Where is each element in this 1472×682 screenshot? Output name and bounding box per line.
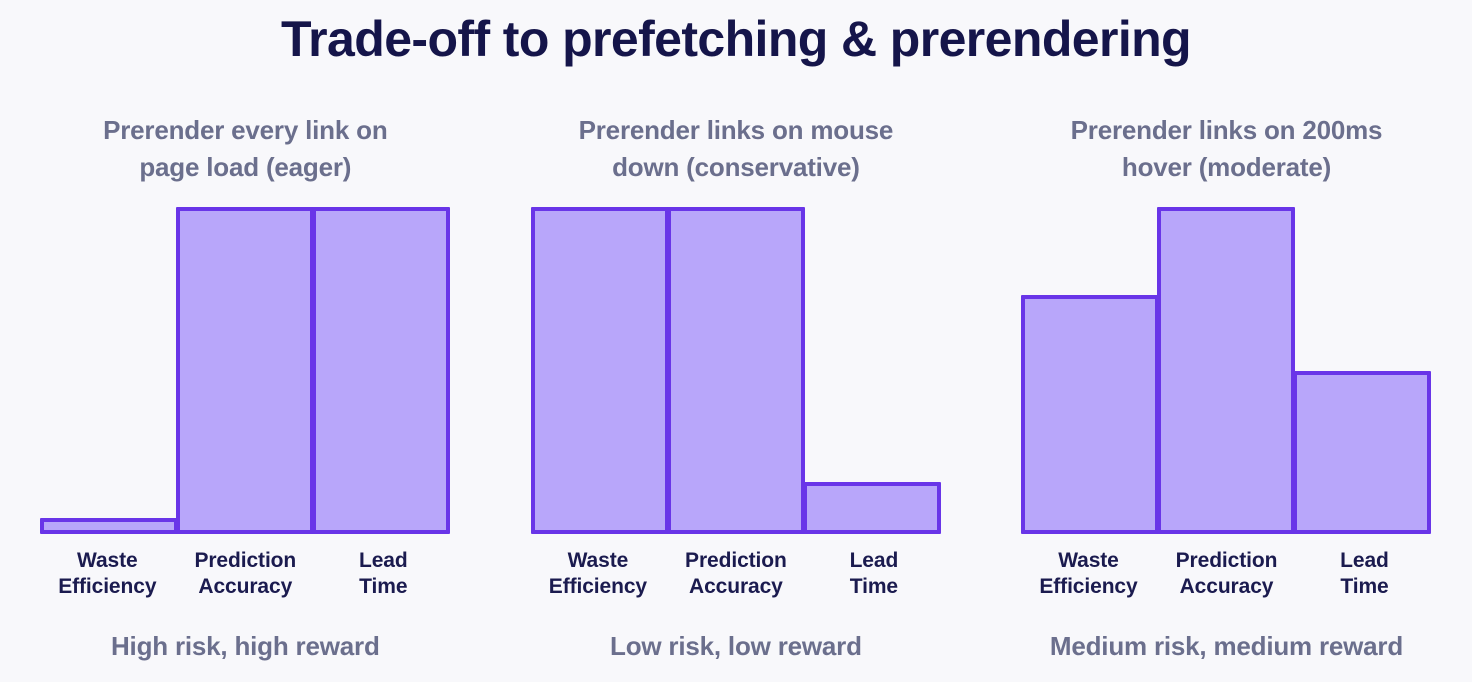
axis-label-waste-efficiency: Waste Efficiency: [1019, 548, 1157, 600]
axis-label-line-2: Efficiency: [58, 575, 156, 598]
axis-label-line-1: Waste: [568, 549, 629, 572]
axis-label-line-2: Accuracy: [1180, 575, 1274, 598]
axis-label-line-2: Time: [1340, 575, 1388, 598]
axis-label-line-2: Time: [359, 575, 407, 598]
axis-label-line-2: Efficiency: [1039, 575, 1137, 598]
panel-subtitle: Prerender every link on page load (eager…: [35, 112, 455, 186]
axis-label-waste-efficiency: Waste Efficiency: [38, 548, 176, 600]
axis-label-prediction-accuracy: Prediction Accuracy: [1157, 548, 1295, 600]
axis-label-line-1: Waste: [77, 549, 138, 572]
bar-waste-efficiency[interactable]: [531, 207, 669, 534]
panel-subtitle: Prerender links on 200ms hover (moderate…: [1016, 112, 1436, 186]
axis-label-line-2: Accuracy: [198, 575, 292, 598]
axis-label-line-1: Lead: [359, 549, 408, 572]
panel-subtitle-line-1: Prerender every link on: [103, 115, 387, 145]
panel-eager: Prerender every link on page load (eager…: [0, 104, 491, 674]
bar-lead-time[interactable]: [803, 482, 941, 534]
panel-caption: Low risk, low reward: [501, 630, 971, 662]
bar-chart: [38, 207, 452, 534]
axis-label-line-2: Accuracy: [689, 575, 783, 598]
axis-label-lead-time: Lead Time: [314, 548, 452, 600]
axis-label-line-1: Lead: [1340, 549, 1389, 572]
panel-caption: High risk, high reward: [10, 630, 480, 662]
axis-label-line-2: Time: [850, 575, 898, 598]
axis-label-waste-efficiency: Waste Efficiency: [529, 548, 667, 600]
axis-labels: Waste Efficiency Prediction Accuracy Lea…: [529, 548, 943, 600]
panel-subtitle-line-2: page load (eager): [139, 152, 351, 182]
axis-label-line-1: Prediction: [685, 549, 787, 572]
bar-prediction-accuracy[interactable]: [1157, 207, 1295, 534]
axis-label-line-1: Lead: [850, 549, 899, 572]
bar-lead-time[interactable]: [312, 207, 450, 534]
axis-label-line-1: Prediction: [194, 549, 296, 572]
panels-row: Prerender every link on page load (eager…: [0, 104, 1472, 674]
panel-subtitle-line-2: hover (moderate): [1122, 152, 1331, 182]
slide-root: Trade-off to prefetching & prerendering …: [0, 0, 1472, 682]
bar-chart: [1019, 207, 1433, 534]
bar-prediction-accuracy[interactable]: [176, 207, 314, 534]
axis-label-line-1: Waste: [1058, 549, 1119, 572]
axis-labels: Waste Efficiency Prediction Accuracy Lea…: [38, 548, 452, 600]
axis-label-lead-time: Lead Time: [1295, 548, 1433, 600]
bar-chart: [529, 207, 943, 534]
panel-subtitle-line-1: Prerender links on 200ms: [1071, 115, 1383, 145]
bar-waste-efficiency[interactable]: [1021, 295, 1159, 534]
bar-waste-efficiency[interactable]: [40, 518, 178, 534]
page-title: Trade-off to prefetching & prerendering: [0, 8, 1472, 70]
panel-subtitle-line-2: down (conservative): [612, 152, 860, 182]
panel-subtitle-line-1: Prerender links on mouse: [579, 115, 894, 145]
panel-subtitle: Prerender links on mouse down (conservat…: [526, 112, 946, 186]
axis-label-line-1: Prediction: [1176, 549, 1278, 572]
panel-moderate: Prerender links on 200ms hover (moderate…: [981, 104, 1472, 674]
axis-label-prediction-accuracy: Prediction Accuracy: [176, 548, 314, 600]
panel-conservative: Prerender links on mouse down (conservat…: [491, 104, 982, 674]
bar-prediction-accuracy[interactable]: [667, 207, 805, 534]
axis-label-line-2: Efficiency: [549, 575, 647, 598]
panel-caption: Medium risk, medium reward: [991, 630, 1461, 662]
axis-labels: Waste Efficiency Prediction Accuracy Lea…: [1019, 548, 1433, 600]
axis-label-lead-time: Lead Time: [805, 548, 943, 600]
axis-label-prediction-accuracy: Prediction Accuracy: [667, 548, 805, 600]
bar-lead-time[interactable]: [1293, 371, 1431, 535]
